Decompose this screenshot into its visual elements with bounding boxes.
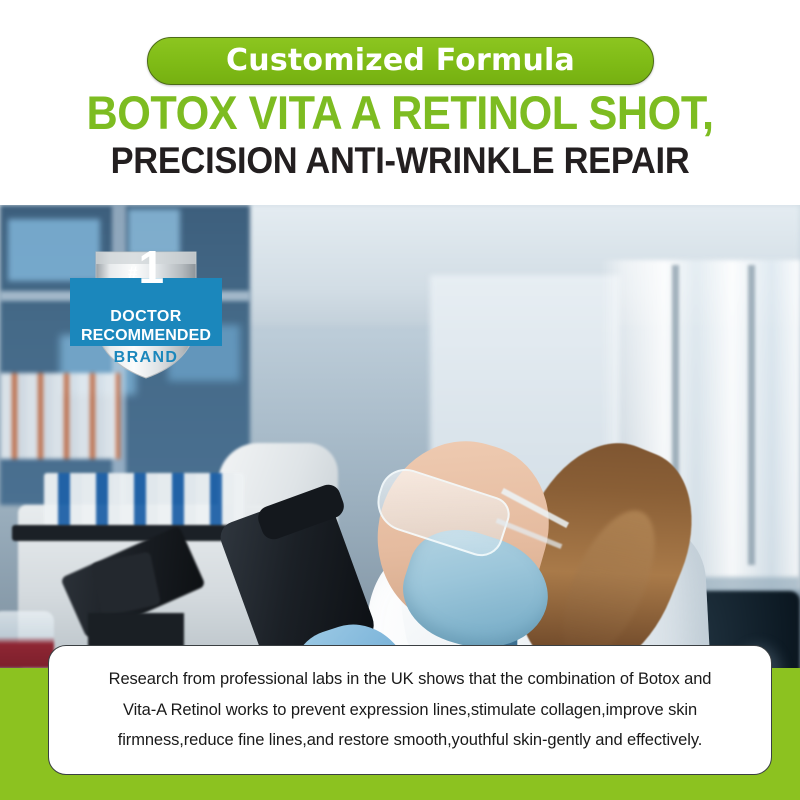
photo-sample-vials — [44, 473, 244, 527]
page-subtitle: PRECISION ANTI-WRINKLE REPAIR — [28, 142, 772, 181]
product-poster: DOCTOR RECOMMENDED # 1 BRAND Customized … — [0, 0, 800, 800]
research-info-card: Research from professional labs in the U… — [48, 645, 772, 775]
rank-number: 1 — [138, 248, 164, 288]
photo-test-tube-rack — [0, 373, 120, 459]
badge-line-recommended: RECOMMENDED — [81, 328, 211, 344]
pill-label: Customized Formula — [226, 46, 575, 76]
photo-window-mullion — [748, 265, 755, 565]
doctor-recommended-badge: DOCTOR RECOMMENDED # 1 BRAND — [66, 246, 226, 382]
badge-rank: # 1 — [128, 248, 164, 288]
badge-line-brand: BRAND — [66, 350, 226, 366]
header: Customized Formula BOTOX VITA A RETINOL … — [0, 0, 800, 205]
badge-line-doctor: DOCTOR — [110, 309, 181, 325]
photo-flask — [0, 611, 54, 668]
info-line: Research from professional labs in the U… — [109, 671, 712, 688]
info-line: Vita-A Retinol works to prevent expressi… — [123, 702, 697, 719]
page-title: BOTOX VITA A RETINOL SHOT, — [32, 88, 768, 137]
hash-symbol: # — [128, 263, 137, 283]
customized-formula-pill: Customized Formula — [147, 37, 654, 85]
info-line: firmness,reduce fine lines,and restore s… — [118, 732, 702, 749]
